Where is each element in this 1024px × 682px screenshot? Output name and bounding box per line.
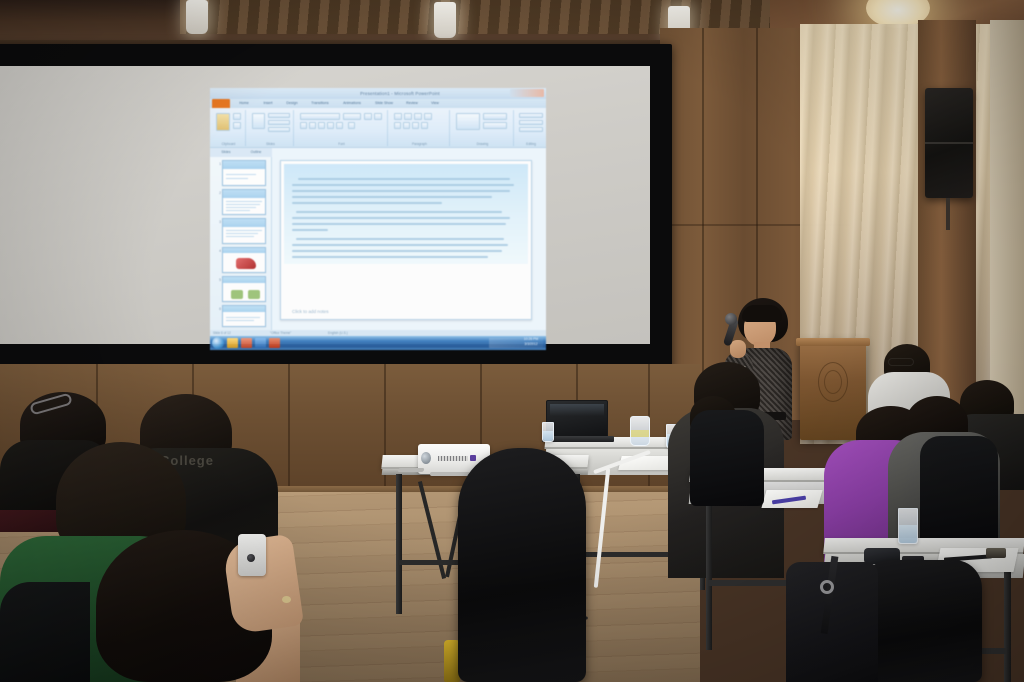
font-size-select[interactable] [343,113,361,120]
window-controls[interactable] [510,89,544,97]
increase-indent-icon[interactable] [424,113,432,120]
slide-thumbnail[interactable] [222,160,266,186]
thumbnail-number: 2 [214,191,221,195]
microphone-icon [725,313,737,325]
notes-placeholder[interactable]: Click to add notes [292,309,329,314]
laptop-screen-glow [550,404,604,416]
reset-icon[interactable] [268,120,290,125]
thumbnail-number: 1 [214,162,221,166]
start-button[interactable] [212,337,224,349]
thumbnail-image [236,258,256,269]
podium-emblem-inner [824,370,842,394]
bold-icon[interactable] [300,122,307,129]
slide-thumbnail[interactable] [222,218,266,244]
conference-chair[interactable] [920,436,998,548]
thumbnail-number: 3 [214,220,221,224]
shrink-font-icon[interactable] [374,113,382,120]
tab-slides[interactable]: Slides [212,149,240,156]
water-glass [898,508,918,544]
ceiling-light [186,0,208,34]
ribbon-group-clipboard[interactable]: Clipboard [212,110,246,146]
new-slide-icon[interactable] [252,113,265,129]
ribbon-tab-view[interactable]: View [426,100,444,107]
conference-chair[interactable] [862,560,982,682]
numbering-icon[interactable] [404,113,412,120]
ribbon-group-label: Editing [516,142,546,146]
slide-thumbnail[interactable] [222,247,266,273]
speaker-mount-arm [946,198,950,230]
taskbar-media-icon[interactable] [241,338,252,348]
align-left-icon[interactable] [394,122,401,129]
taskbar-clock[interactable]: 10:26 PM 3/3/2012 [520,337,542,347]
align-right-icon[interactable] [412,122,419,129]
italic-icon[interactable] [309,122,316,129]
ribbon-group-label: Font [296,142,387,146]
remote-control [397,468,424,472]
ribbon-tab-home[interactable]: Home [234,100,254,107]
ribbon-tab-animations[interactable]: Animations [338,100,366,107]
ribbon-tab-file[interactable] [212,99,230,108]
ribbon-group-paragraph[interactable]: Paragraph [390,110,450,146]
strikethrough-icon[interactable] [336,122,343,129]
projector-foot [430,472,470,476]
slide-thumbnail[interactable] [222,276,266,302]
thumbnail-image [248,290,260,299]
ribbon-group-label: Clipboard [212,142,245,146]
select-icon[interactable] [519,127,543,132]
ribbon-group-label: Paragraph [390,142,449,146]
slide-thumbnail[interactable] [222,189,266,215]
paste-icon[interactable] [216,113,230,131]
table-leg [396,474,402,614]
font-family-select[interactable] [300,113,340,120]
shape-fill-icon[interactable] [483,113,507,120]
bullets-icon[interactable] [394,113,402,120]
copy-icon[interactable] [233,122,241,129]
projected-powerpoint-window: Presentation1 - Microsoft PowerPoint Hom… [210,88,546,350]
taskbar-explorer-icon[interactable] [227,338,238,348]
font-color-icon[interactable] [348,122,355,129]
shapes-gallery[interactable] [456,113,480,130]
ribbon-group-label: Drawing [452,142,513,146]
shadow-icon[interactable] [327,122,334,129]
water-glass [542,422,554,442]
layout-icon[interactable] [268,113,290,118]
table-leg [1004,570,1011,682]
shape-outline-icon[interactable] [483,122,507,129]
ceiling-light [434,2,456,38]
underline-icon[interactable] [318,122,325,129]
thumbnail-image [231,290,243,299]
align-center-icon[interactable] [403,122,410,129]
projector-power-button[interactable] [470,455,476,461]
projector-vent [438,456,468,461]
grow-font-icon[interactable] [364,113,372,120]
conference-chair[interactable] [690,410,764,506]
tab-outline[interactable]: Outline [242,149,270,156]
ribbon-tab-slideshow[interactable]: Slide Show [370,100,398,107]
ribbon-group-editing[interactable]: Editing [516,110,546,146]
ribbon-group-label: Slides [248,142,293,146]
thumbnail-number: 6 [214,307,221,311]
ribbon-tab-review[interactable]: Review [402,100,422,107]
projector-lens-icon [421,452,431,464]
ribbon-group-slides[interactable]: Slides [248,110,294,146]
conference-chair[interactable] [458,448,586,682]
eyeglass-case [986,548,1006,558]
taskbar-browser-icon[interactable] [255,338,266,348]
conference-room-photo: Presentation1 - Microsoft PowerPoint Hom… [0,0,1024,682]
clock-date: 3/3/2012 [520,342,542,347]
slide-content-box[interactable] [284,164,528,264]
speaker-seam [925,142,973,144]
cut-icon[interactable] [233,113,241,120]
ribbon-group-font[interactable]: Font [296,110,388,146]
camera-lens-icon [247,554,255,562]
section-icon[interactable] [268,127,290,132]
ribbon-tab-transitions[interactable]: Transitions [306,100,334,107]
taskbar-powerpoint-icon[interactable] [269,338,280,348]
thumbnail-number: 4 [214,249,221,253]
ppt-window-title: Presentation1 - Microsoft PowerPoint [320,89,480,98]
bag-buckle [820,580,834,594]
table-leg [706,500,712,650]
thumbnail-number: 5 [214,278,221,282]
presenter-fringe [742,305,782,322]
ribbon-tab-insert[interactable]: Insert [258,100,278,107]
presenter-hand [730,340,746,358]
slide-thumbnail[interactable] [222,305,266,327]
decrease-indent-icon[interactable] [414,113,422,120]
replace-icon[interactable] [519,120,543,125]
ribbon-tab-design[interactable]: Design [282,100,302,107]
glasses-icon [888,358,914,366]
pitcher-label [631,430,649,437]
attendee-shoulder [0,582,90,682]
ribbon-group-drawing[interactable]: Drawing [452,110,514,146]
justify-icon[interactable] [421,122,428,129]
find-icon[interactable] [519,113,543,118]
finger-ring [282,596,291,603]
